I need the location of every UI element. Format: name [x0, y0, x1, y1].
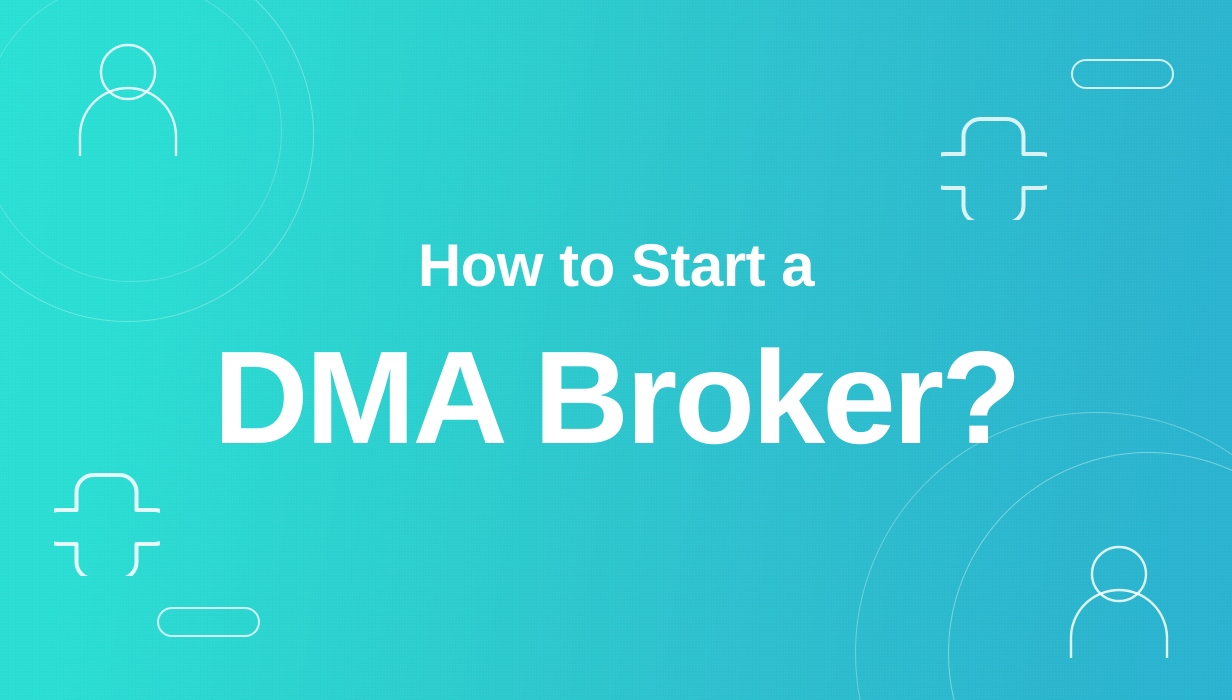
banner-eyebrow: How to Start a — [418, 236, 814, 296]
banner-headline: DMA Broker? — [213, 332, 1019, 464]
promo-banner: How to Start a DMA Broker? — [0, 0, 1232, 700]
banner-text-block: How to Start a DMA Broker? — [0, 0, 1232, 700]
